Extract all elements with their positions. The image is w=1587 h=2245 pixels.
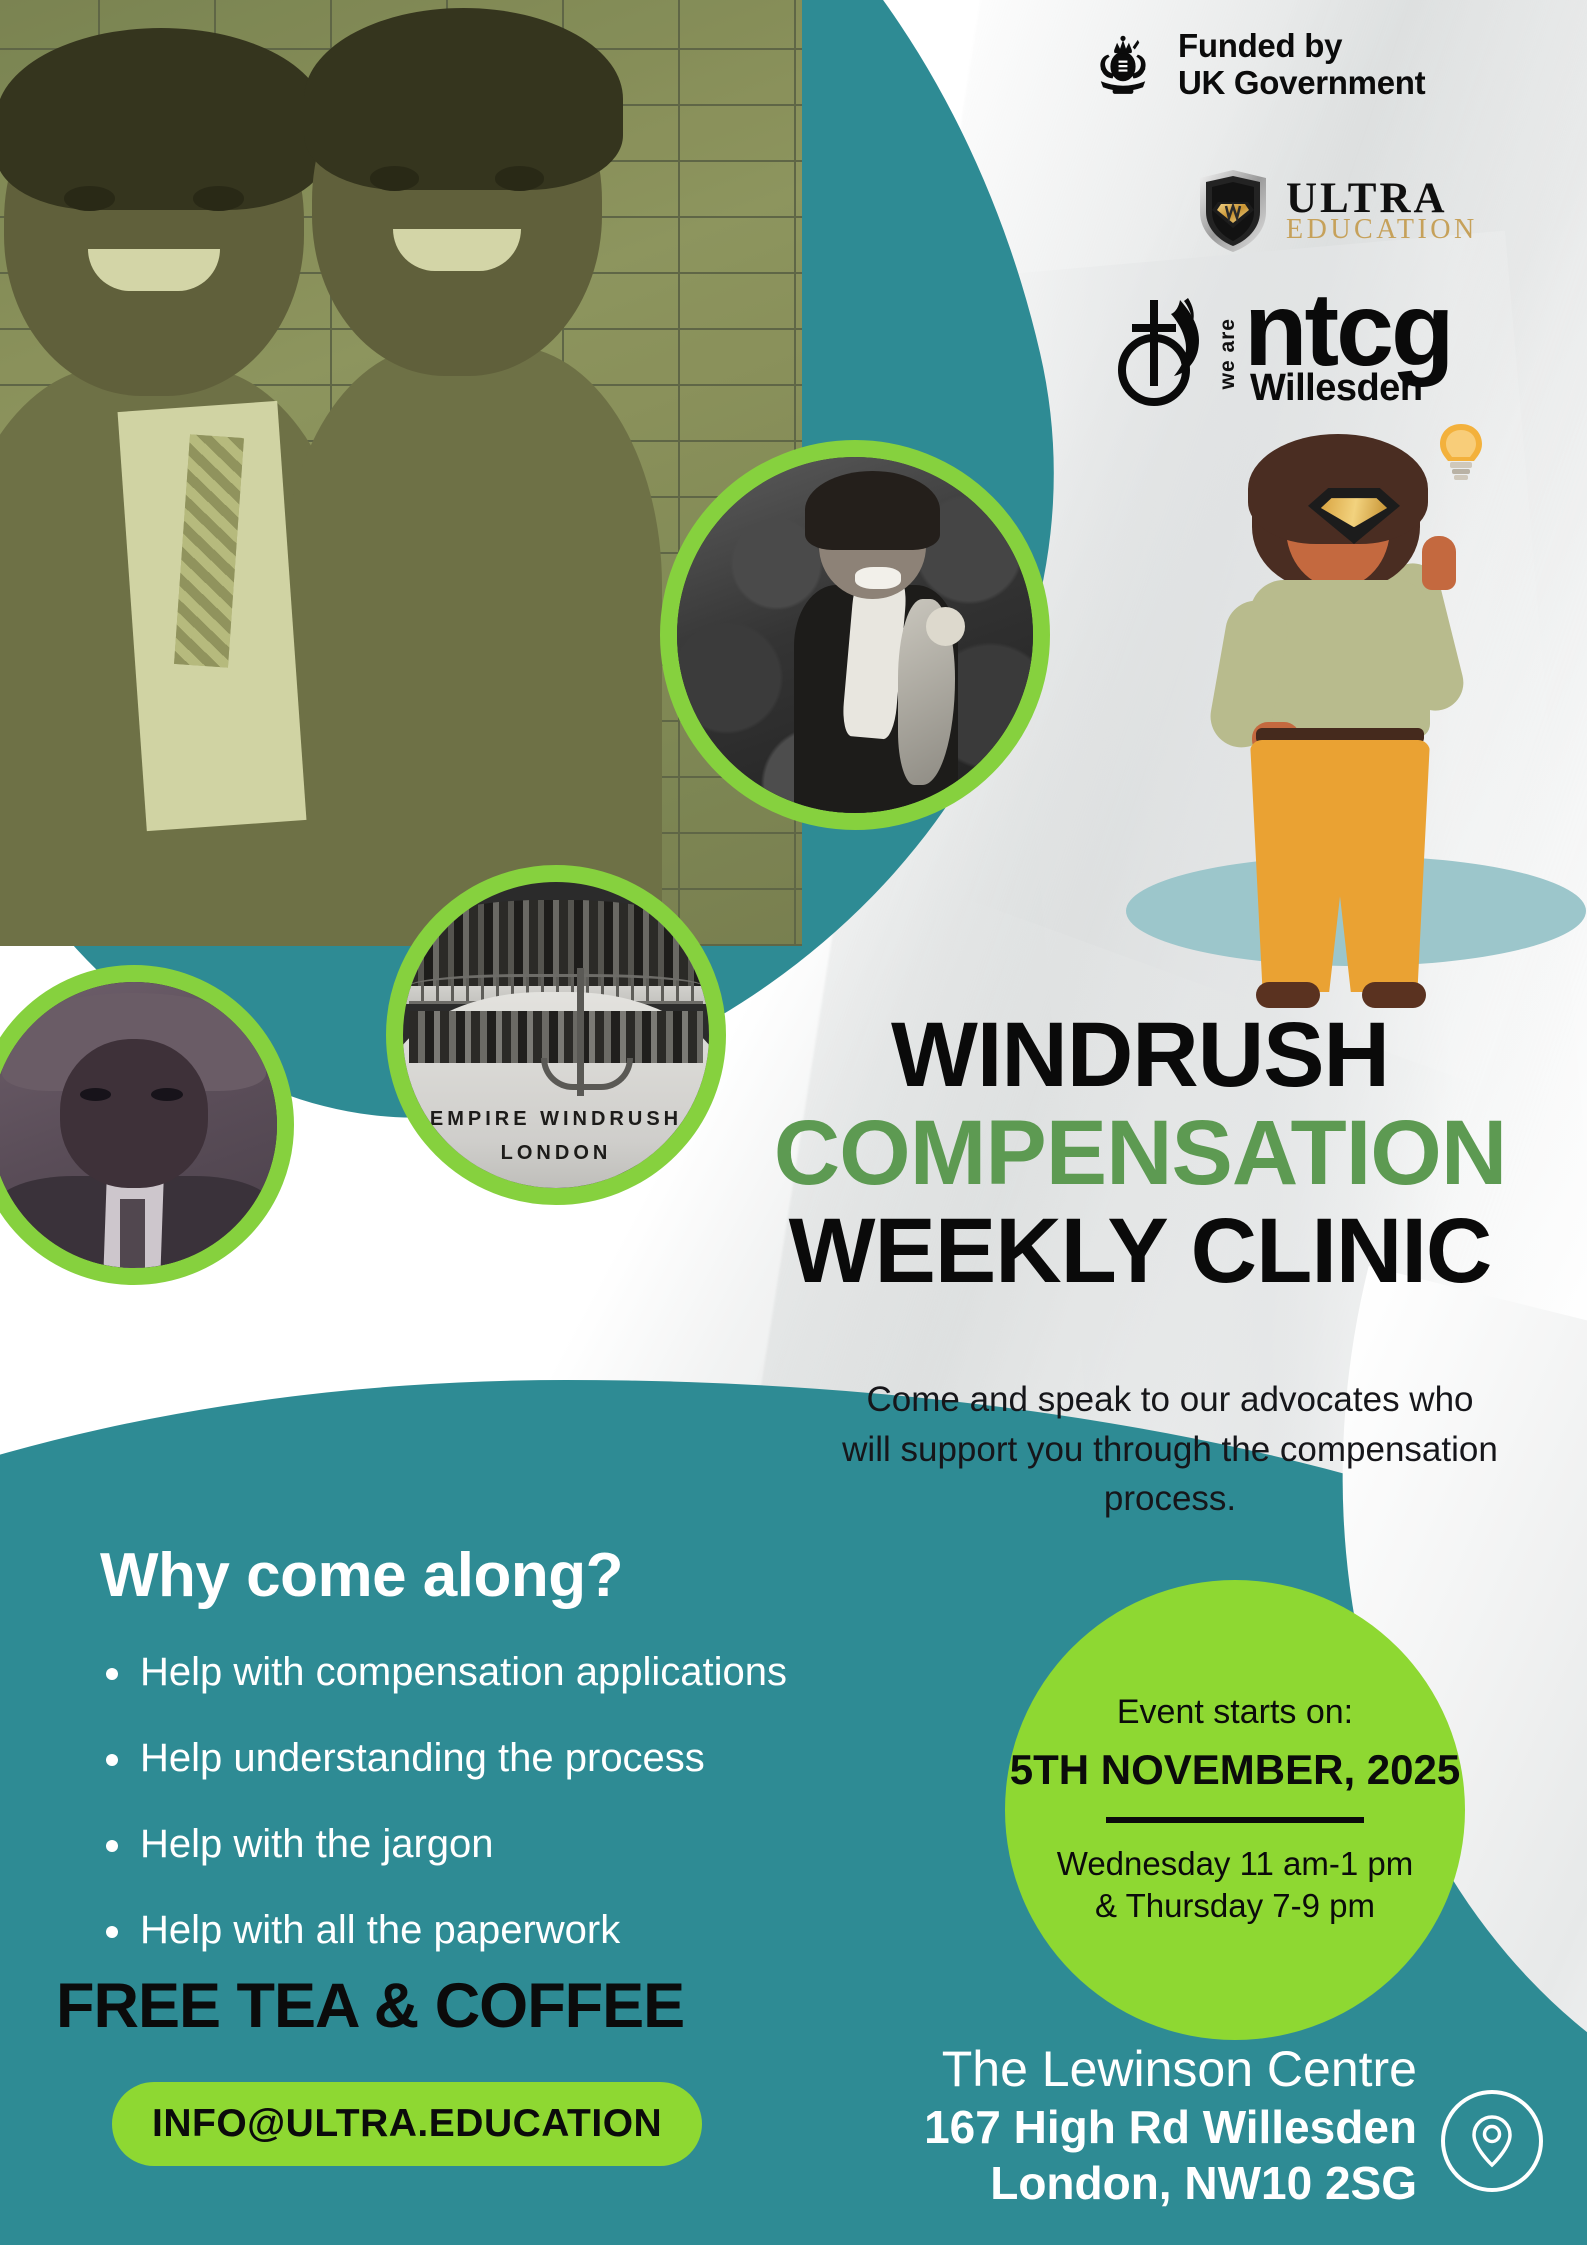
ntcg-location: Willesden [1250, 367, 1452, 410]
event-date-badge: Event starts on: 5TH NOVEMBER, 2025 Wedn… [1005, 1580, 1465, 2040]
funded-by-uk-government-logo: Funded by UK Government [1086, 28, 1425, 102]
gov-logo-text: Funded by UK Government [1178, 28, 1425, 102]
ship-passengers-lower [409, 1011, 703, 1063]
poster-headline: WINDRUSH COMPENSATION WEEKLY CLINIC [700, 1010, 1580, 1296]
list-item: Help with all the paperwork [100, 1908, 900, 1952]
list-item: Help understanding the process [100, 1736, 900, 1780]
saxophonist-smile [855, 567, 901, 588]
event-date-text: 5TH NOVEMBER, 2025 [1010, 1746, 1460, 1793]
ntcg-wordmark: ntcg [1244, 288, 1452, 373]
list-item: Help with compensation applications [100, 1650, 900, 1694]
why-section-title: Why come along? [100, 1540, 623, 1611]
headline-line-2: COMPENSATION [700, 1108, 1580, 1198]
man-portrait-photo-medallion [0, 965, 294, 1285]
saxophonist-photo-medallion [660, 440, 1050, 830]
poster-subhead: Come and speak to our advocates who will… [840, 1375, 1500, 1524]
event-time-line-2: & Thursday 7-9 pm [1057, 1885, 1413, 1927]
headline-line-1: WINDRUSH [700, 1010, 1580, 1100]
ultra-shield-icon [1196, 168, 1270, 254]
ntcg-flame-cross-icon [1118, 292, 1210, 410]
education-word: EDUCATION [1286, 217, 1478, 243]
saxophonist-hair [805, 471, 940, 549]
ntcg-wordmark-block: ntcg Willesden [1244, 288, 1452, 410]
event-time-line-1: Wednesday 11 am-1 pm [1057, 1843, 1413, 1885]
man-eye-right [151, 1088, 182, 1101]
ultra-logo-text: ULTRA EDUCATION [1286, 179, 1478, 242]
ultra-education-logo: ULTRA EDUCATION [1196, 168, 1478, 254]
ntcg-willesden-logo: we are ntcg Willesden [1118, 288, 1452, 410]
why-benefits-list: Help with compensation applications Help… [100, 1650, 900, 1994]
venue-address: The Lewinson Centre 167 High Rd Willesde… [924, 2040, 1417, 2211]
gov-line-2: UK Government [1178, 65, 1425, 102]
man-tie [120, 1199, 146, 1273]
event-lead-text: Event starts on: [1117, 1693, 1353, 1732]
ship-port-text: LONDON [403, 1142, 709, 1165]
gov-line-1: Funded by [1178, 28, 1425, 65]
event-divider [1106, 1817, 1364, 1823]
venue-name: The Lewinson Centre [924, 2040, 1417, 2099]
headline-line-3: WEEKLY CLINIC [700, 1206, 1580, 1296]
royal-crest-icon [1086, 28, 1160, 102]
windrush-ship-photo-medallion: EMPIRE WINDRUSH LONDON [386, 865, 726, 1205]
man-eye-left [80, 1088, 111, 1101]
contact-email-button[interactable]: INFO@ULTRA.EDUCATION [112, 2082, 702, 2166]
list-item: Help with the jargon [100, 1822, 900, 1866]
location-pin-badge [1441, 2090, 1543, 2192]
venue-city-postcode: London, NW10 2SG [924, 2155, 1417, 2211]
free-refreshments-text: FREE TEA & COFFEE [56, 1970, 684, 2042]
saxophonist-corsage [926, 607, 965, 646]
ntcg-we-are-text: we are [1216, 318, 1240, 389]
ship-name-text: EMPIRE WINDRUSH [403, 1108, 709, 1131]
location-pin-icon [1466, 2111, 1518, 2171]
man-face [60, 1039, 209, 1188]
poster-canvas: EMPIRE WINDRUSH LONDON [0, 0, 1587, 2245]
lightbulb-icon [1436, 422, 1486, 484]
man-photo-inner [0, 982, 277, 1268]
ship-photo-inner: EMPIRE WINDRUSH LONDON [403, 882, 709, 1188]
illustration-pointing-hand [1422, 536, 1456, 590]
ship-anchor-icon [577, 968, 584, 1097]
ultra-word: ULTRA [1286, 179, 1478, 219]
saxophonist-photo-inner [677, 457, 1033, 813]
woman-illustration [1190, 440, 1520, 770]
venue-street: 167 High Rd Willesden [924, 2099, 1417, 2155]
event-times: Wednesday 11 am-1 pm & Thursday 7-9 pm [1057, 1843, 1413, 1927]
